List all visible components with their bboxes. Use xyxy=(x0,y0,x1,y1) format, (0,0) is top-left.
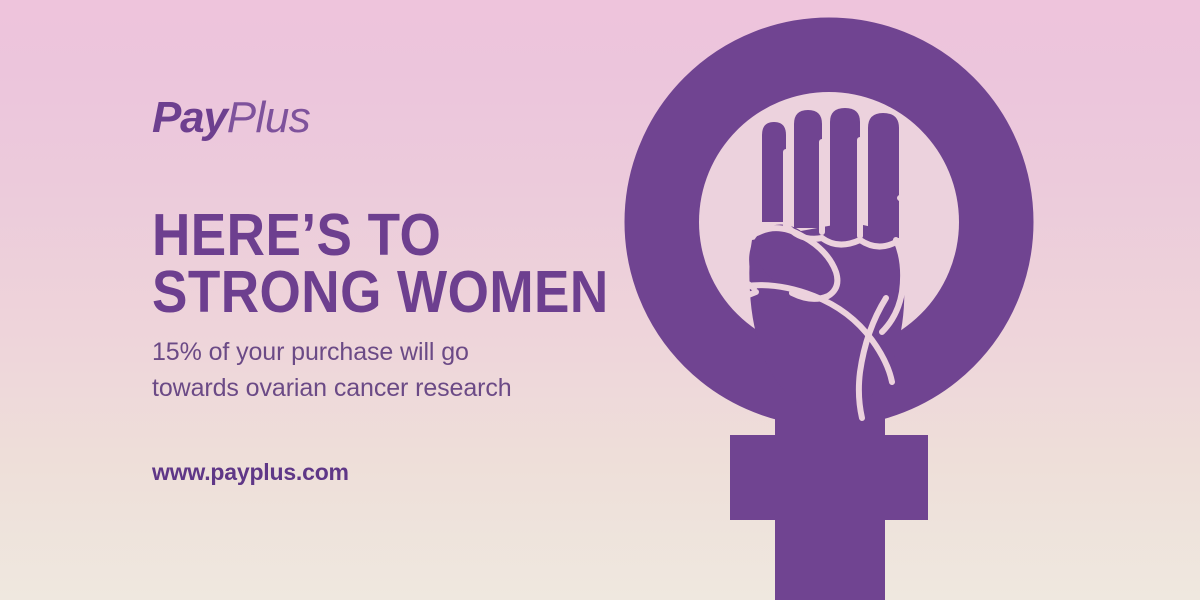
headline-line-2: Strong Women xyxy=(152,264,609,321)
promo-banner: PayPlus Here’s to Strong Women 15% of yo… xyxy=(0,0,1200,600)
subtitle-line-2: towards ovarian cancer research xyxy=(152,370,512,406)
website-link[interactable]: www.payplus.com xyxy=(152,459,349,486)
text-column: PayPlus Here’s to Strong Women 15% of yo… xyxy=(152,0,582,600)
logo-text-plus: Plus xyxy=(227,93,311,142)
headline-line-1: Here’s to xyxy=(152,207,609,264)
brand-logo[interactable]: PayPlus xyxy=(152,96,310,140)
feminist-fist-icon xyxy=(600,0,1070,600)
subtitle-line-1: 15% of your purchase will go xyxy=(152,334,512,370)
page-title: Here’s to Strong Women xyxy=(152,207,609,321)
subtitle: 15% of your purchase will go towards ova… xyxy=(152,334,512,406)
logo-text-pay: Pay xyxy=(152,93,227,142)
